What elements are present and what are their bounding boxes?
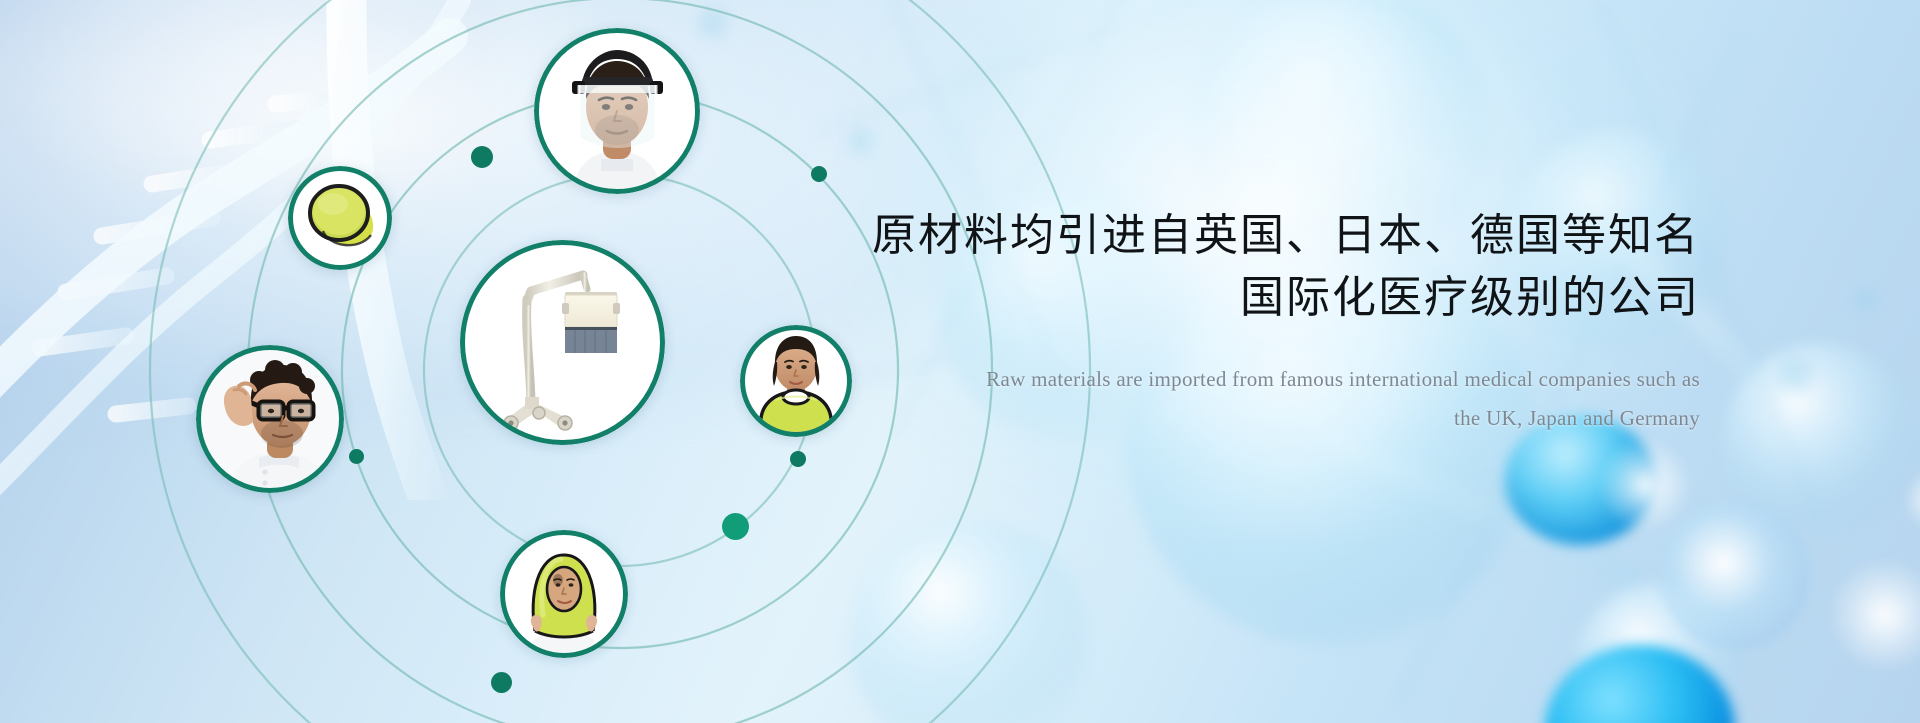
subcopy-line-2: the UK, Japan and Germany — [860, 399, 1700, 438]
orbit-dot-6 — [491, 672, 512, 693]
bubble-thyroid-collar-woman[interactable] — [740, 325, 852, 437]
orbit-dot-1 — [471, 146, 493, 168]
headline-line-2: 国际化医疗级别的公司 — [860, 267, 1700, 329]
bubble-image-thyroid-collar-woman — [745, 330, 847, 432]
bubble-protective-hood-woman[interactable] — [500, 530, 628, 658]
bubble-lead-glasses-man[interactable] — [196, 345, 344, 493]
hero-banner: 原材料均引进自英国、日本、德国等知名 国际化医疗级别的公司 Raw materi… — [0, 0, 1920, 723]
bubble-image-protective-cap — [293, 171, 387, 265]
headline-line-1: 原材料均引进自英国、日本、德国等知名 — [872, 211, 1700, 260]
bubble-image-lead-glasses-man — [201, 350, 339, 488]
orbit-dot-2 — [811, 166, 827, 182]
bubble-protective-cap[interactable] — [288, 166, 392, 270]
bubble-image-face-shield-man — [539, 33, 695, 189]
banner-copy: 原材料均引进自英国、日本、德国等知名 国际化医疗级别的公司 Raw materi… — [860, 205, 1700, 438]
bubble-face-shield-man[interactable] — [534, 28, 700, 194]
bubble-image-xray-barrier — [465, 245, 660, 440]
subcopy-line-1: Raw materials are imported from famous i… — [986, 367, 1700, 391]
orbit-dot-3 — [349, 449, 364, 464]
headline: 原材料均引进自英国、日本、德国等知名 国际化医疗级别的公司 — [860, 205, 1700, 330]
bubble-image-protective-hood-woman — [505, 535, 623, 653]
subcopy: Raw materials are imported from famous i… — [860, 360, 1700, 438]
bubble-xray-barrier[interactable] — [460, 240, 665, 445]
orbit-dot-4 — [790, 451, 806, 467]
orbit-dot-5 — [722, 513, 749, 540]
